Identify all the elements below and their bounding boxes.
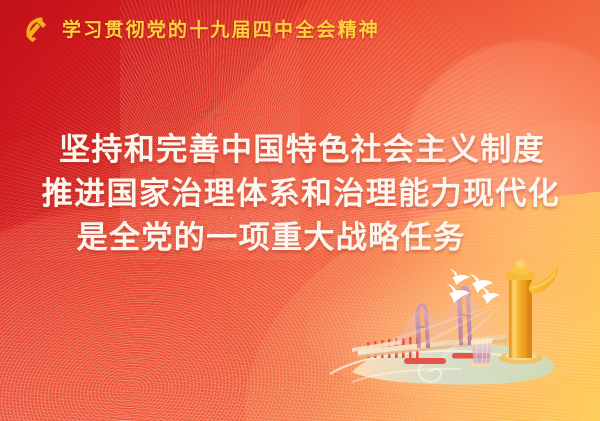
hammer-and-sickle-icon [18, 12, 52, 46]
main-title-line-3: 是全党的一项重大战略任务 [0, 216, 600, 260]
main-title-line-2: 推进国家治理体系和治理能力现代化 [0, 172, 600, 216]
propaganda-poster: 学习贯彻党的十九届四中全会精神 坚持和完善中国特色社会主义制度 推进国家治理体系… [0, 0, 600, 421]
header-title: 学习贯彻党的十九届四中全会精神 [62, 15, 380, 42]
main-title-line-1: 坚持和完善中国特色社会主义制度 [0, 128, 600, 172]
main-title-block: 坚持和完善中国特色社会主义制度 推进国家治理体系和治理能力现代化 是全党的一项重… [0, 128, 600, 260]
header-bar: 学习贯彻党的十九届四中全会精神 [0, 0, 600, 57]
